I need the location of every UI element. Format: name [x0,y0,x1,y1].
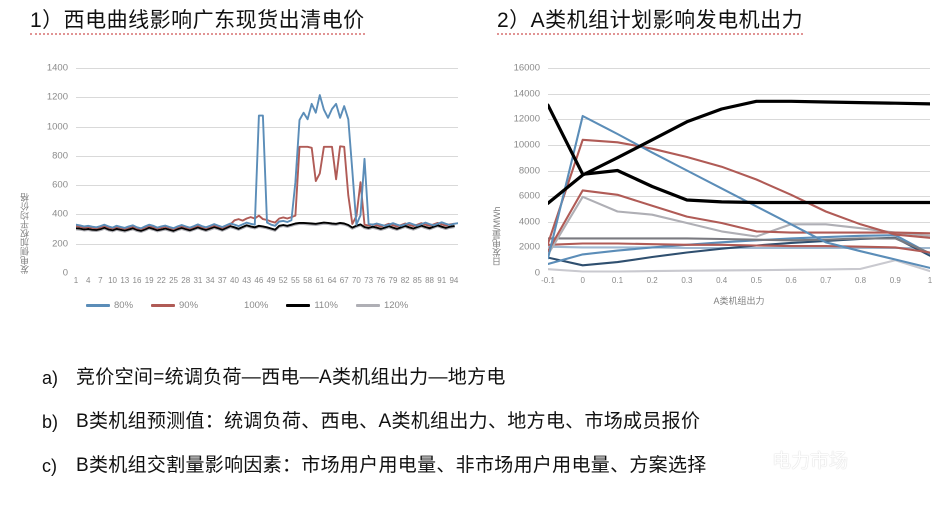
y-tick-label: 0 [63,268,68,279]
legend-item-90pct[interactable]: 90% [151,300,198,311]
x-tick-label: 0.4 [716,276,727,285]
y-tick-label: 14000 [514,88,540,99]
legend-item-80pct[interactable]: 80% [86,300,133,311]
x-tick-label: 40 [230,276,239,285]
chart-left-x-tick-labels: 1471013161922252831343740434649525558616… [76,276,458,290]
x-tick-label: 13 [120,276,129,285]
y-tick-label: 12000 [514,114,540,125]
legend-item-100pct[interactable]: 100% [216,300,268,311]
x-tick-label: 10 [108,276,117,285]
y-tick-label: 1000 [47,121,68,132]
legend-swatch-icon [216,304,240,307]
x-tick-label: 58 [303,276,312,285]
x-tick-label: 0.9 [890,276,901,285]
y-tick-label: 200 [52,238,68,249]
x-tick-label: 49 [267,276,276,285]
x-tick-label: 94 [449,276,458,285]
y-tick-label: 0 [535,268,540,279]
x-tick-label: 0.5 [751,276,762,285]
bullet-text-b: B类机组预测值：统调负荷、西电、A类机组出力、地方电、市场成员报价 [76,400,700,444]
y-tick-label: 1400 [47,63,68,74]
x-tick-label: 46 [254,276,263,285]
bullet-marker-c: c) [42,444,76,488]
x-tick-label: 52 [279,276,288,285]
page-title-left: 1）西电曲线影响广东现货出清电价 [30,8,365,34]
x-tick-label: 0.7 [820,276,831,285]
x-tick-label: -0.1 [541,276,555,285]
y-tick-label: 8000 [519,165,540,176]
y-tick-label: 10000 [514,139,540,150]
chart-left-legend: 80%90%100%110%120% [86,300,408,311]
x-tick-label: 4 [86,276,90,285]
bullet-text-a: 竞价空间=统调负荷—西电—A类机组出力—地方电 [76,356,506,400]
x-tick-label: 7 [98,276,102,285]
y-tick-label: 800 [52,150,68,161]
x-tick-label: 0 [580,276,584,285]
y-tick-label: 6000 [519,191,540,202]
y-tick-label: 400 [52,209,68,220]
x-tick-label: 64 [328,276,337,285]
bullet-item-b: b) B类机组预测值：统调负荷、西电、A类机组出力、地方电、市场成员报价 [42,400,942,444]
legend-label: 90% [179,300,198,311]
chart-west-power-price: 发电侧加权平均价格 0200400600800100012001400 1471… [10,46,472,334]
bullet-list: a) 竞价空间=统调负荷—西电—A类机组出力—地方电 b) B类机组预测值：统调… [42,356,942,488]
y-tick-label: 600 [52,180,68,191]
x-tick-label: 76 [376,276,385,285]
x-tick-label: 61 [315,276,324,285]
x-tick-label: 55 [291,276,300,285]
legend-label: 100% [244,300,268,311]
chart-left-y-tick-labels: 0200400600800100012001400 [24,68,68,273]
legend-label: 120% [384,300,408,311]
bullet-marker-b: b) [42,400,76,444]
x-tick-label: 67 [340,276,349,285]
x-tick-label: 0.2 [647,276,658,285]
legend-swatch-icon [151,304,175,307]
title-right-text: 2）A类机组计划影响发电机出力 [497,9,803,35]
legend-label: 80% [114,300,133,311]
chart-left-series [76,68,458,273]
x-tick-label: 19 [145,276,154,285]
x-tick-label: 91 [437,276,446,285]
chart-right-x-tick-labels: -0.100.10.20.30.40.50.60.70.80.91 [548,276,930,290]
x-tick-label: 85 [413,276,422,285]
x-tick-label: 0.3 [681,276,692,285]
y-tick-label: 16000 [514,63,540,74]
chart-right-plot-area [548,68,930,273]
x-tick-label: 1 [74,276,78,285]
page-title-right: 2）A类机组计划影响发电机出力 [497,8,803,34]
x-tick-label: 43 [242,276,251,285]
x-tick-label: 70 [352,276,361,285]
chart-right-series [548,68,930,273]
legend-swatch-icon [356,304,380,307]
x-tick-label: 0.6 [786,276,797,285]
y-tick-label: 2000 [519,242,540,253]
x-tick-label: 28 [181,276,190,285]
chart-right-y-tick-labels: 0200040006000800010000120001400016000 [496,68,540,273]
x-tick-label: 31 [193,276,202,285]
bullet-text-c: B类机组交割量影响因素：市场用户用电量、非市场用户用电量、方案选择 [76,444,707,488]
legend-item-110pct[interactable]: 110% [286,300,338,311]
bullet-item-c: c) B类机组交割量影响因素：市场用户用电量、非市场用户用电量、方案选择 [42,444,942,488]
x-tick-label: 16 [133,276,142,285]
legend-swatch-icon [286,304,310,307]
title-left-text: 1）西电曲线影响广东现货出清电价 [30,9,365,35]
x-tick-label: 0.1 [612,276,623,285]
y-tick-label: 4000 [519,216,540,227]
chart-left-plot-area [76,68,458,273]
x-tick-label: 88 [425,276,434,285]
x-tick-label: 34 [206,276,215,285]
x-tick-label: 22 [157,276,166,285]
legend-swatch-icon [86,304,110,307]
slide-root: 1）西电曲线影响广东现货出清电价 2）A类机组计划影响发电机出力 发电侧加权平均… [0,0,952,509]
x-tick-label: 79 [389,276,398,285]
x-tick-label: 1 [928,276,932,285]
x-tick-label: 0.8 [855,276,866,285]
y-tick-label: 1200 [47,92,68,103]
bullet-item-a: a) 竞价空间=统调负荷—西电—A类机组出力—地方电 [42,356,942,400]
legend-label: 110% [314,300,338,311]
x-tick-label: 82 [401,276,410,285]
x-tick-label: 73 [364,276,373,285]
bullet-marker-a: a) [42,356,76,400]
chart-right-x-axis-title: A类机组出力 [548,294,930,307]
legend-item-120pct[interactable]: 120% [356,300,408,311]
x-tick-label: 37 [218,276,227,285]
x-tick-label: 25 [169,276,178,285]
chart-unit-output: 日发电量/MWh 0200040006000800010000120001400… [482,46,944,334]
